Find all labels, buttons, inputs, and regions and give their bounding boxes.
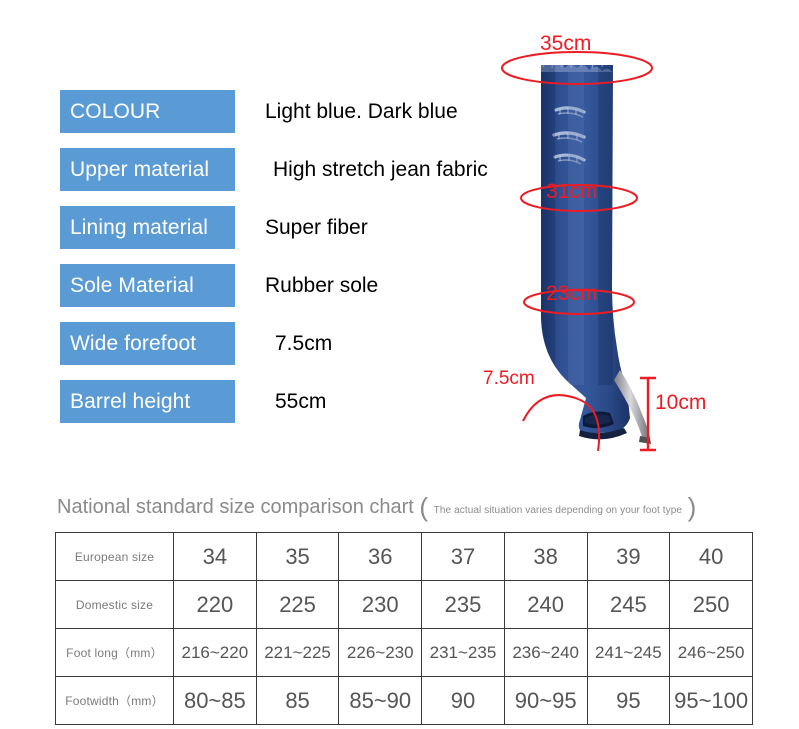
cell-foot-width-4: 90~95 <box>504 677 587 725</box>
cell-foot-long-2: 226~230 <box>339 629 422 677</box>
cell-foot-width-1: 85 <box>256 677 339 725</box>
cell-domestic-size-1: 225 <box>256 581 339 629</box>
size-chart-note-open-paren: ( <box>419 492 428 522</box>
spec-label-colour: COLOUR <box>60 90 235 133</box>
cell-european-size-0: 34 <box>174 533 257 581</box>
table-row-european-size: European size 34 35 36 37 38 39 40 <box>56 533 753 581</box>
cell-foot-long-4: 236~240 <box>504 629 587 677</box>
cell-european-size-6: 40 <box>670 533 753 581</box>
spec-value-colour: Light blue. Dark blue <box>265 90 458 133</box>
cell-domestic-size-5: 245 <box>587 581 670 629</box>
cell-foot-width-5: 95 <box>587 677 670 725</box>
spec-row-sole-material: Sole Material Rubber sole <box>60 264 530 307</box>
cell-foot-width-0: 80~85 <box>174 677 257 725</box>
row-label-foot-width: Footwidth（mm） <box>56 677 174 725</box>
dimension-label-forefoot-width: 7.5cm <box>483 368 535 390</box>
cell-european-size-1: 35 <box>256 533 339 581</box>
row-label-foot-long: Foot long（mm） <box>56 629 174 677</box>
cell-domestic-size-6: 250 <box>670 581 753 629</box>
size-chart-note: The actual situation varies depending on… <box>434 505 682 516</box>
cell-foot-long-3: 231~235 <box>422 629 505 677</box>
table-row-domestic-size: Domestic size 220 225 230 235 240 245 25… <box>56 581 753 629</box>
spec-label-wide-forefoot: Wide forefoot <box>60 322 235 365</box>
cell-domestic-size-2: 230 <box>339 581 422 629</box>
cell-foot-long-0: 216~220 <box>174 629 257 677</box>
cell-foot-long-1: 221~225 <box>256 629 339 677</box>
cell-domestic-size-4: 240 <box>504 581 587 629</box>
cell-european-size-4: 38 <box>504 533 587 581</box>
size-chart-title: National standard size comparison chart … <box>57 492 696 523</box>
cell-domestic-size-3: 235 <box>422 581 505 629</box>
spec-row-colour: COLOUR Light blue. Dark blue <box>60 90 530 133</box>
spec-label-upper-material: Upper material <box>60 148 235 191</box>
boot-product-figure: 35cm 31cm 23cm 7.5cm 10cm <box>480 18 799 480</box>
spec-value-barrel-height: 55cm <box>275 380 326 423</box>
cell-european-size-3: 37 <box>422 533 505 581</box>
table-row-foot-width: Footwidth（mm） 80~85 85 85~90 90 90~95 95… <box>56 677 753 725</box>
dimension-label-mid-circumference: 31cm <box>546 180 597 204</box>
fabric-shading <box>541 65 613 385</box>
cell-foot-width-6: 95~100 <box>670 677 753 725</box>
boot-illustration <box>480 18 799 480</box>
spec-value-lining-material: Super fiber <box>265 206 368 249</box>
spec-value-wide-forefoot: 7.5cm <box>275 322 332 365</box>
dimension-label-heel-height: 10cm <box>655 391 706 415</box>
cell-foot-width-2: 85~90 <box>339 677 422 725</box>
size-chart-note-close-paren: ) <box>688 492 697 522</box>
spec-row-upper-material: Upper material High stretch jean fabric <box>60 148 530 191</box>
spec-value-upper-material: High stretch jean fabric <box>273 148 488 191</box>
spec-row-wide-forefoot: Wide forefoot 7.5cm <box>60 322 530 365</box>
dimension-label-lower-circumference: 23cm <box>546 282 597 306</box>
size-chart-title-text: National standard size comparison chart <box>57 496 414 518</box>
spec-label-sole-material: Sole Material <box>60 264 235 307</box>
cell-foot-long-5: 241~245 <box>587 629 670 677</box>
dimension-label-top-circumference: 35cm <box>540 32 591 56</box>
spec-row-lining-material: Lining material Super fiber <box>60 206 530 249</box>
spec-value-sole-material: Rubber sole <box>265 264 378 307</box>
cell-european-size-2: 36 <box>339 533 422 581</box>
specification-list: COLOUR Light blue. Dark blue Upper mater… <box>60 90 530 438</box>
spec-label-lining-material: Lining material <box>60 206 235 249</box>
size-comparison-table: European size 34 35 36 37 38 39 40 Domes… <box>55 532 753 725</box>
cell-domestic-size-0: 220 <box>174 581 257 629</box>
row-label-domestic-size: Domestic size <box>56 581 174 629</box>
spec-row-barrel-height: Barrel height 55cm <box>60 380 530 423</box>
row-label-european-size: European size <box>56 533 174 581</box>
cell-foot-width-3: 90 <box>422 677 505 725</box>
table-row-foot-long: Foot long（mm） 216~220 221~225 226~230 23… <box>56 629 753 677</box>
spec-label-barrel-height: Barrel height <box>60 380 235 423</box>
cell-european-size-5: 39 <box>587 533 670 581</box>
cell-foot-long-6: 246~250 <box>670 629 753 677</box>
